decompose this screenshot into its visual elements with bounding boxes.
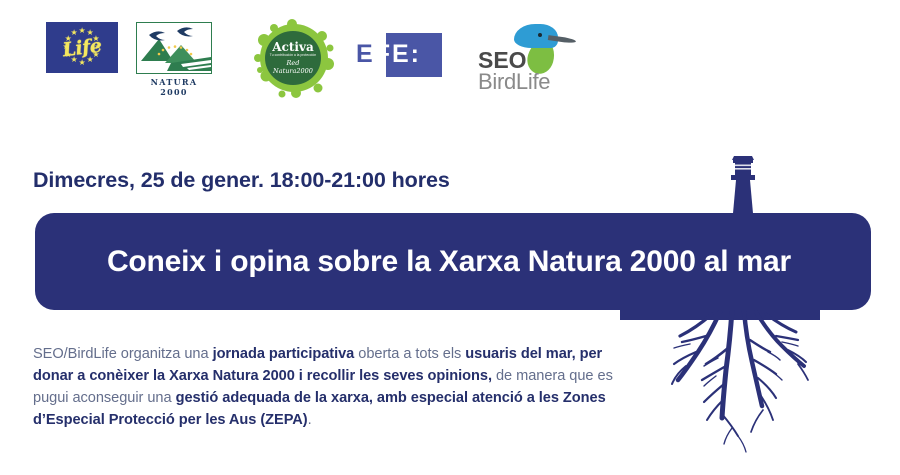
description-plain-segment: SEO/BirdLife organitza una: [33, 346, 213, 362]
description-bold-segment: jornada participativa: [213, 346, 355, 362]
natura-landscape-graphic: [136, 22, 212, 74]
event-title-text: Coneix i opina sobre la Xarxa Natura 200…: [107, 245, 791, 279]
efe-wordmark: EFE:: [356, 40, 442, 68]
natura-2000-logo: NATURA 2000: [136, 22, 212, 97]
natura-scene-svg: [137, 23, 212, 74]
roots-icon: [672, 310, 808, 452]
activa-subtitle: Tu contribución a la protección: [270, 53, 316, 57]
natura-2000-label: NATURA 2000: [136, 77, 212, 97]
activa-line2: Natura2000: [273, 67, 313, 75]
description-plain-segment: oberta a tots els: [354, 346, 465, 362]
event-date-line: Dimecres, 25 de gener. 18:00-21:00 hores: [33, 168, 450, 193]
description-plain-segment: .: [308, 412, 312, 428]
birdlife-wordmark: BirdLife: [478, 70, 550, 93]
activa-center-disc: Activa Tu contribución a la protección R…: [265, 31, 321, 85]
event-title-banner: Coneix i opina sobre la Xarxa Natura 200…: [35, 213, 871, 310]
partner-logo-strip: ★★★★★★★★★★★★ Life: [0, 0, 900, 108]
event-description: SEO/BirdLife organitza una jornada parti…: [33, 343, 633, 432]
activa-title: Activa: [272, 41, 313, 53]
life-wordmark: Life: [61, 34, 102, 61]
activa-red-natura-text: RedNatura2000: [273, 59, 313, 75]
bird-eye-icon: [538, 33, 542, 37]
seo-birdlife-logo: SEO BirdLife: [478, 20, 582, 96]
life-eu-logo: ★★★★★★★★★★★★ Life: [46, 22, 118, 73]
activa-red-natura-logo: Activa Tu contribución a la protección R…: [252, 18, 336, 98]
eu-flag-graphic: ★★★★★★★★★★★★ Life: [46, 22, 118, 73]
activa-line1: Red: [287, 59, 300, 67]
efe-agency-logo: EFE:: [356, 33, 442, 77]
